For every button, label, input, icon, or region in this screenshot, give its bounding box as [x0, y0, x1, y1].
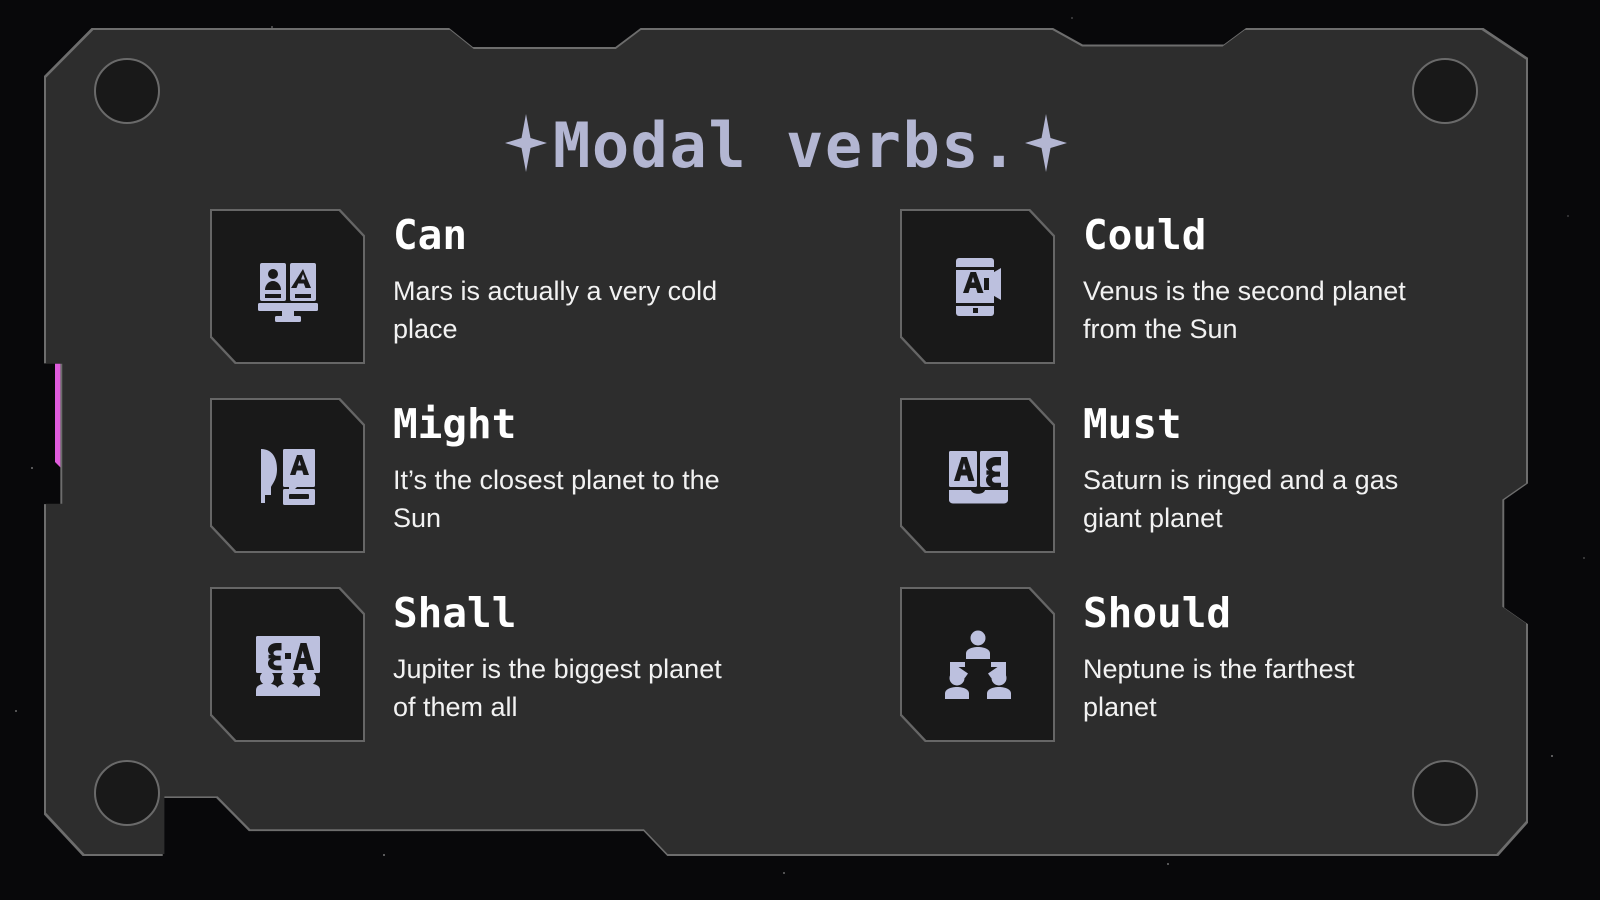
item-title: Shall [393, 593, 733, 634]
icon-card-can [210, 209, 365, 364]
slide-title-row: Modal verbs. [44, 112, 1528, 179]
item-title: Should [1083, 593, 1423, 634]
sparkle-left-icon [503, 112, 549, 179]
icon-card-could [900, 209, 1055, 364]
item-text-must: Must Saturn is ringed and a gas giant pl… [1083, 398, 1423, 538]
open-dictionary-book-icon [902, 400, 1053, 551]
item-text-should: Should Neptune is the farthest planet [1083, 587, 1423, 727]
sparkle-right-icon [1023, 112, 1069, 179]
tech-panel: Modal verbs. [44, 28, 1528, 856]
item-text-might: Might It’s the closest planet to the Sun [393, 398, 733, 538]
team-network-icon [902, 589, 1053, 740]
item-description: Mars is actually a very cold place [393, 272, 733, 349]
icon-card-shall [210, 587, 365, 742]
list-item: Might It’s the closest planet to the Sun [210, 398, 830, 553]
item-text-could: Could Venus is the second planet from th… [1083, 209, 1423, 349]
bolt-bottom-right-icon [1412, 760, 1478, 826]
classroom-whiteboard-icon [212, 589, 363, 740]
list-item: Shall Jupiter is the biggest planet of t… [210, 587, 830, 742]
item-description: Jupiter is the biggest planet of them al… [393, 650, 733, 727]
item-text-can: Can Mars is actually a very cold place [393, 209, 733, 349]
list-item: Must Saturn is ringed and a gas giant pl… [900, 398, 1520, 553]
icon-card-might [210, 398, 365, 553]
mobile-audio-lesson-icon [902, 211, 1053, 362]
modal-verbs-grid: Can Mars is actually a very cold place [210, 209, 1520, 742]
item-description: It’s the closest planet to the Sun [393, 461, 733, 538]
item-title: Could [1083, 215, 1423, 256]
item-title: Must [1083, 404, 1423, 445]
item-title: Might [393, 404, 733, 445]
item-title: Can [393, 215, 733, 256]
item-text-shall: Shall Jupiter is the biggest planet of t… [393, 587, 733, 727]
page-title: Modal verbs. [553, 115, 1019, 177]
slide-stage: Modal verbs. [0, 0, 1600, 900]
item-description: Venus is the second planet from the Sun [1083, 272, 1423, 349]
speaking-profile-icon [212, 400, 363, 551]
list-item: Should Neptune is the farthest planet [900, 587, 1520, 742]
bolt-bottom-left-icon [94, 760, 160, 826]
item-description: Neptune is the farthest planet [1083, 650, 1423, 727]
list-item: Could Venus is the second planet from th… [900, 209, 1520, 364]
icon-card-must [900, 398, 1055, 553]
item-description: Saturn is ringed and a gas giant planet [1083, 461, 1423, 538]
icon-card-should [900, 587, 1055, 742]
online-lesson-monitor-icon [212, 211, 363, 362]
list-item: Can Mars is actually a very cold place [210, 209, 830, 364]
